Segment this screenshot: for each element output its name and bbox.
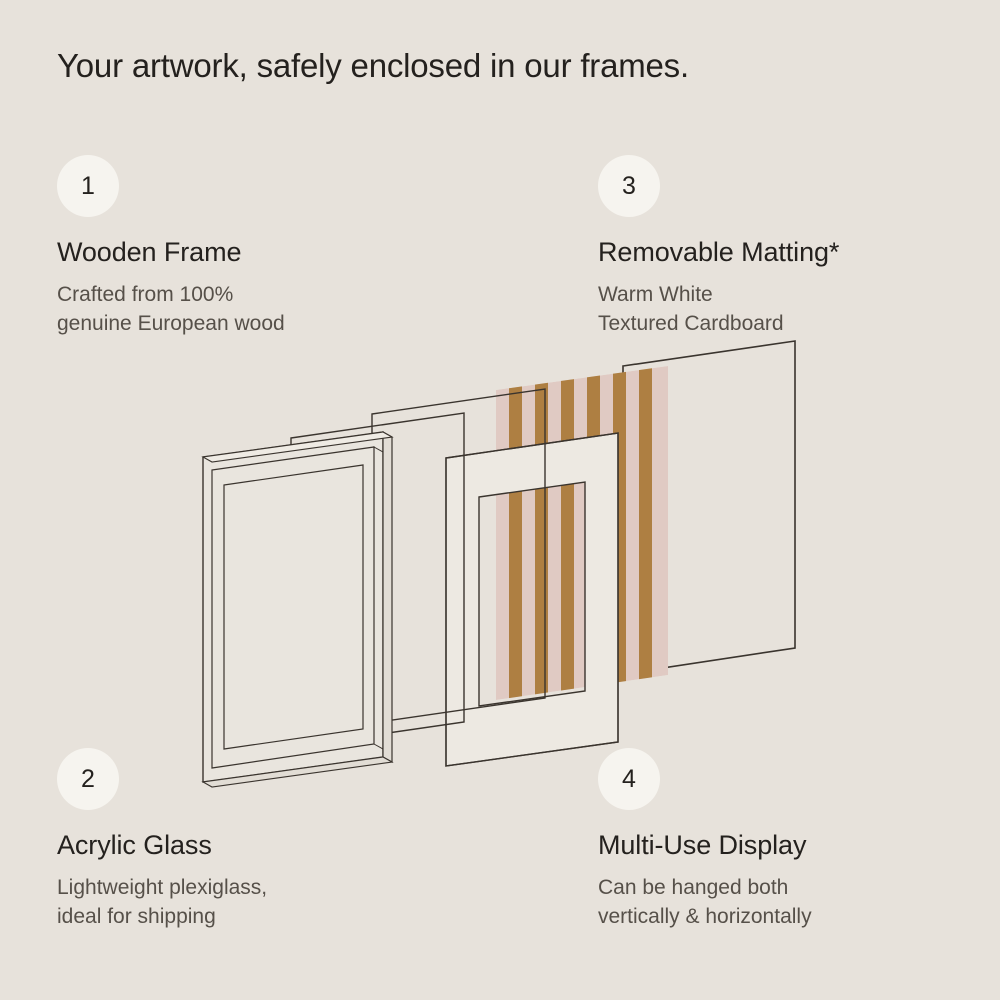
feature-block-acrylic-glass: 2 Acrylic Glass Lightweight plexiglass, … — [57, 748, 457, 932]
backing-board-layer — [623, 341, 795, 674]
feature-number-badge-3: 3 — [598, 155, 660, 217]
feature-description-4: Can be hanged both vertically & horizont… — [598, 874, 998, 932]
feature-block-multi-use-display: 4 Multi-Use Display Can be hanged both v… — [598, 748, 998, 932]
feature-description-line: Crafted from 100% — [57, 281, 457, 310]
matting-window-outline — [446, 433, 618, 766]
feature-title-1: Wooden Frame — [57, 238, 457, 268]
feature-description-line: vertically & horizontally — [598, 903, 998, 932]
feature-description-2: Lightweight plexiglass, ideal for shippi… — [57, 874, 457, 932]
feature-description-line: Warm White — [598, 281, 998, 310]
feature-description-line: Can be hanged both — [598, 874, 998, 903]
feature-description-line: Textured Cardboard — [598, 310, 998, 339]
feature-description-3: Warm White Textured Cardboard — [598, 281, 998, 339]
feature-block-wooden-frame: 1 Wooden Frame Crafted from 100% genuine… — [57, 155, 457, 339]
feature-description-line: Lightweight plexiglass, — [57, 874, 457, 903]
matting-sheet-layer — [446, 433, 618, 766]
feature-description-line: ideal for shipping — [57, 903, 457, 932]
feature-title-3: Removable Matting* — [598, 238, 998, 268]
acrylic-glass-layer — [372, 389, 545, 723]
feature-description-1: Crafted from 100% genuine European wood — [57, 281, 457, 339]
feature-description-line: genuine European wood — [57, 310, 457, 339]
wooden-frame-layer — [203, 432, 392, 787]
acrylic-glass-rear-sheet — [291, 413, 464, 747]
artwork-striped-print-layer — [496, 366, 668, 700]
feature-block-removable-matting: 3 Removable Matting* Warm White Textured… — [598, 155, 998, 339]
frame-anatomy-infographic: Your artwork, safely enclosed in our fra… — [0, 0, 1000, 1000]
feature-number-badge-4: 4 — [598, 748, 660, 810]
feature-number-badge-1: 1 — [57, 155, 119, 217]
feature-title-4: Multi-Use Display — [598, 831, 998, 861]
page-title: Your artwork, safely enclosed in our fra… — [57, 47, 689, 85]
feature-number-badge-2: 2 — [57, 748, 119, 810]
feature-title-2: Acrylic Glass — [57, 831, 457, 861]
